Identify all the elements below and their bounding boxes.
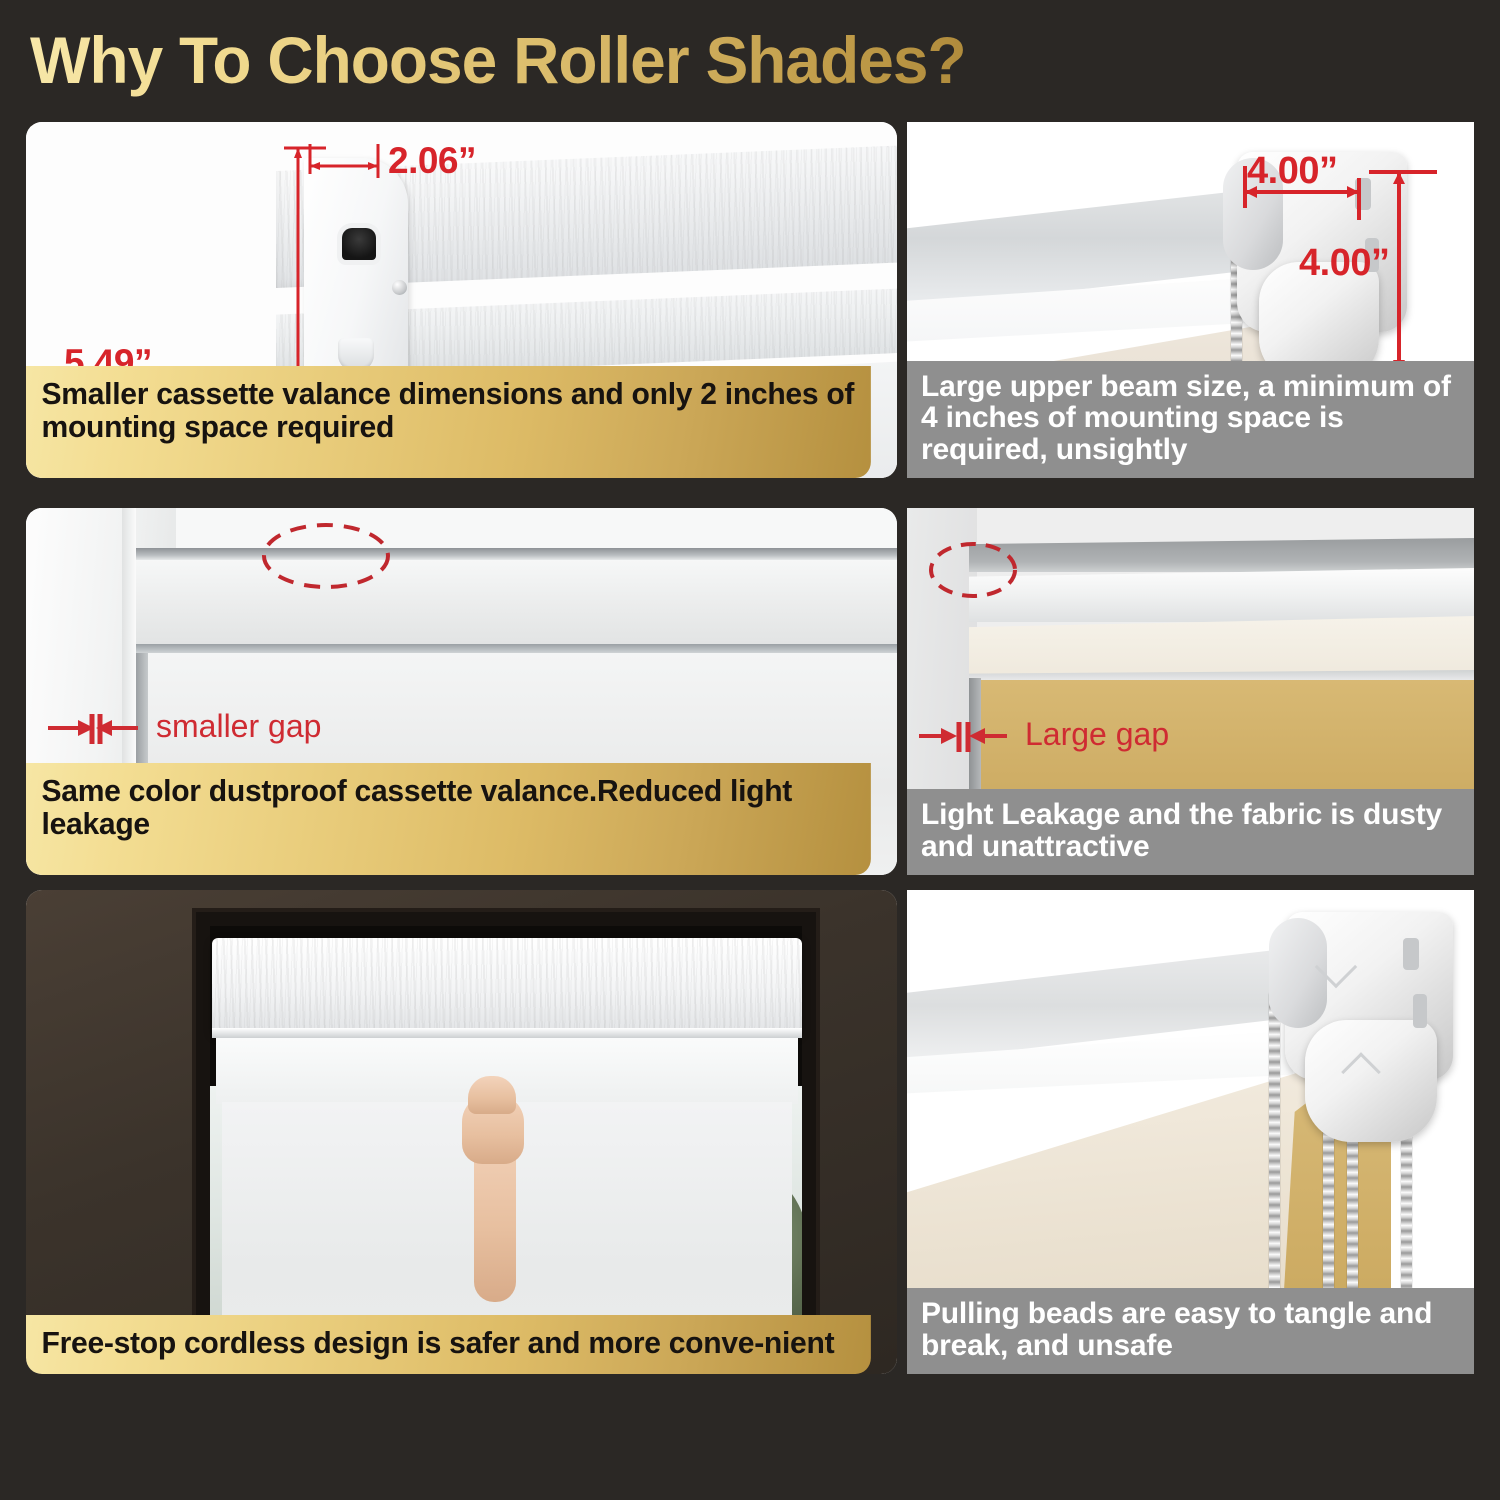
- panel-pulling-beads: Pulling beads are easy to tangle and bre…: [907, 890, 1474, 1374]
- title-bar: Why To Choose Roller Shades?: [0, 0, 1500, 122]
- panel-5-image: [26, 890, 897, 1374]
- beads-bracket-pulley: [1269, 918, 1327, 1028]
- panel-1-caption: Smaller cassette valance dimensions and …: [26, 366, 871, 478]
- roller-tube-edge: [136, 644, 897, 653]
- bracket-slot-a-icon: [1355, 178, 1371, 210]
- page-title: Why To Choose Roller Shades?: [30, 22, 966, 98]
- panel-4-caption: Light Leakage and the fabric is dusty an…: [907, 789, 1474, 875]
- panel-smaller-gap: smaller gap Same color dustproof cassett…: [26, 508, 897, 875]
- end-cap-screw-icon: [392, 280, 407, 295]
- end-cap-slot-icon: [342, 228, 376, 260]
- beads-bracket-slot-b-icon: [1413, 994, 1427, 1028]
- cassette-head-rail: [136, 548, 897, 560]
- panel-smaller-cassette: 2.06” 5.49” Smaller cassette valance dim…: [26, 122, 897, 478]
- panel-large-gap: Large gap Light Leakage and the fabric i…: [907, 508, 1474, 875]
- panel-3-caption: Same color dustproof cassette valance.Re…: [26, 763, 871, 875]
- large-gap-label: Large gap: [1025, 716, 1169, 753]
- panel-large-upper-beam: 4.00” 4.00” Large upper beam size, a min…: [907, 122, 1474, 478]
- scene-valance-lip: [212, 1028, 802, 1038]
- dimension-label-beam-width: 4.00”: [1247, 150, 1337, 193]
- smaller-gap-label: smaller gap: [156, 708, 321, 745]
- valance-fabric-band: [136, 560, 897, 644]
- panel-2-caption: Large upper beam size, a minimum of 4 in…: [907, 361, 1474, 478]
- beads-bracket-slot-a-icon: [1403, 938, 1419, 970]
- panel-5-caption: Free-stop cordless design is safer and m…: [26, 1315, 871, 1374]
- roller-tube-white: [969, 568, 1474, 622]
- dimension-label-beam-height: 4.00”: [1299, 242, 1389, 285]
- panel-cordless-design: Free-stop cordless design is safer and m…: [26, 890, 897, 1374]
- hand-fingers: [468, 1076, 516, 1114]
- scene-valance-texture: [212, 938, 802, 1034]
- panel-6-caption: Pulling beads are easy to tangle and bre…: [907, 1288, 1474, 1374]
- dimension-label-width: 2.06”: [388, 140, 476, 182]
